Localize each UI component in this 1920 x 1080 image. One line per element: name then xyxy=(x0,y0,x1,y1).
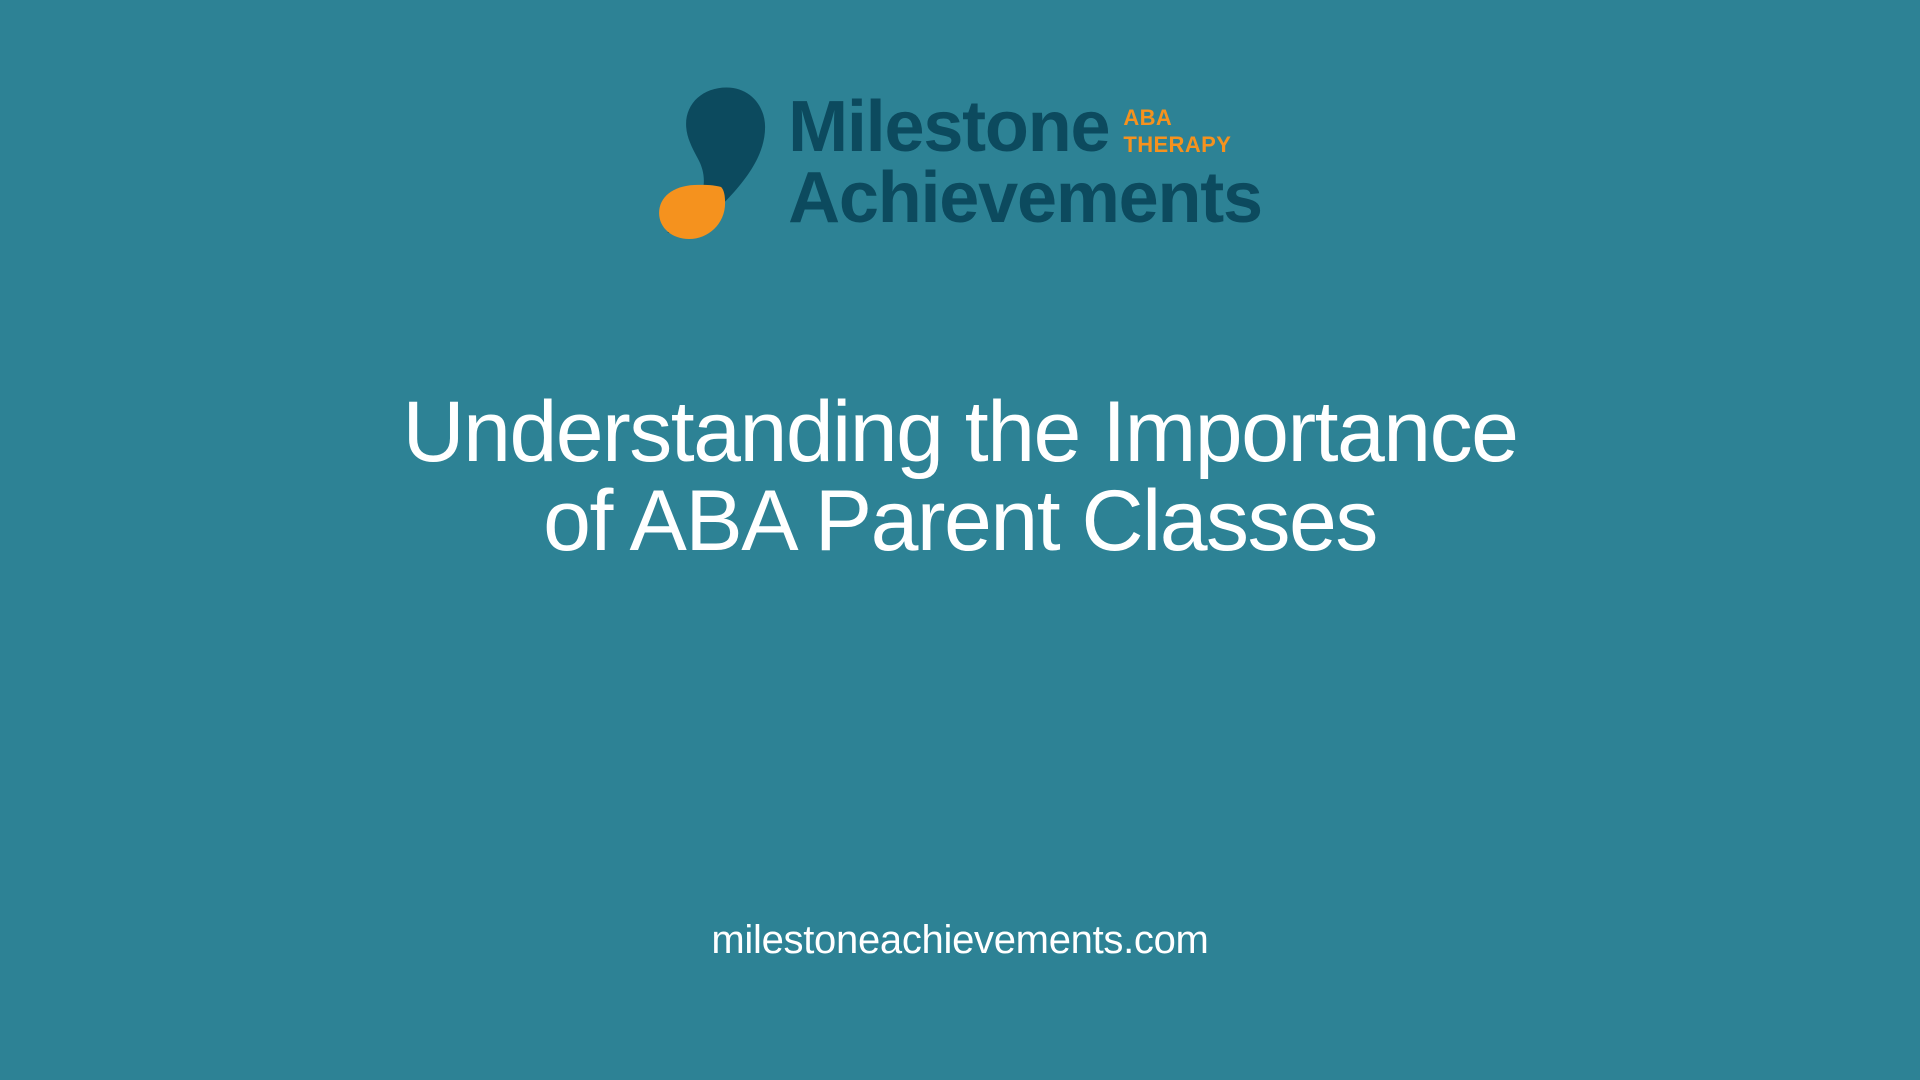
brand-tagline-line-1: ABA xyxy=(1123,105,1231,132)
brand-wordmark-top-row: Milestone ABA THERAPY xyxy=(788,93,1262,162)
comma-teardrop-logo-mark xyxy=(658,86,766,241)
brand-name-line-2: Achievements xyxy=(788,164,1262,233)
page-title-line-2: of ABA Parent Classes xyxy=(130,477,1790,566)
brand-wordmark: Milestone ABA THERAPY Achievements xyxy=(788,93,1262,233)
brand-tagline-line-2: THERAPY xyxy=(1123,132,1231,159)
brand-tagline: ABA THERAPY xyxy=(1123,93,1231,159)
footer-website-url[interactable]: milestoneachievements.com xyxy=(0,918,1920,963)
title-card-slide: Milestone ABA THERAPY Achievements Under… xyxy=(0,0,1920,1080)
brand-name-line-1: Milestone xyxy=(788,93,1109,162)
brand-logo-lockup[interactable]: Milestone ABA THERAPY Achievements xyxy=(658,78,1262,248)
page-title: Understanding the Importance of ABA Pare… xyxy=(0,388,1920,565)
page-title-line-1: Understanding the Importance xyxy=(130,388,1790,477)
